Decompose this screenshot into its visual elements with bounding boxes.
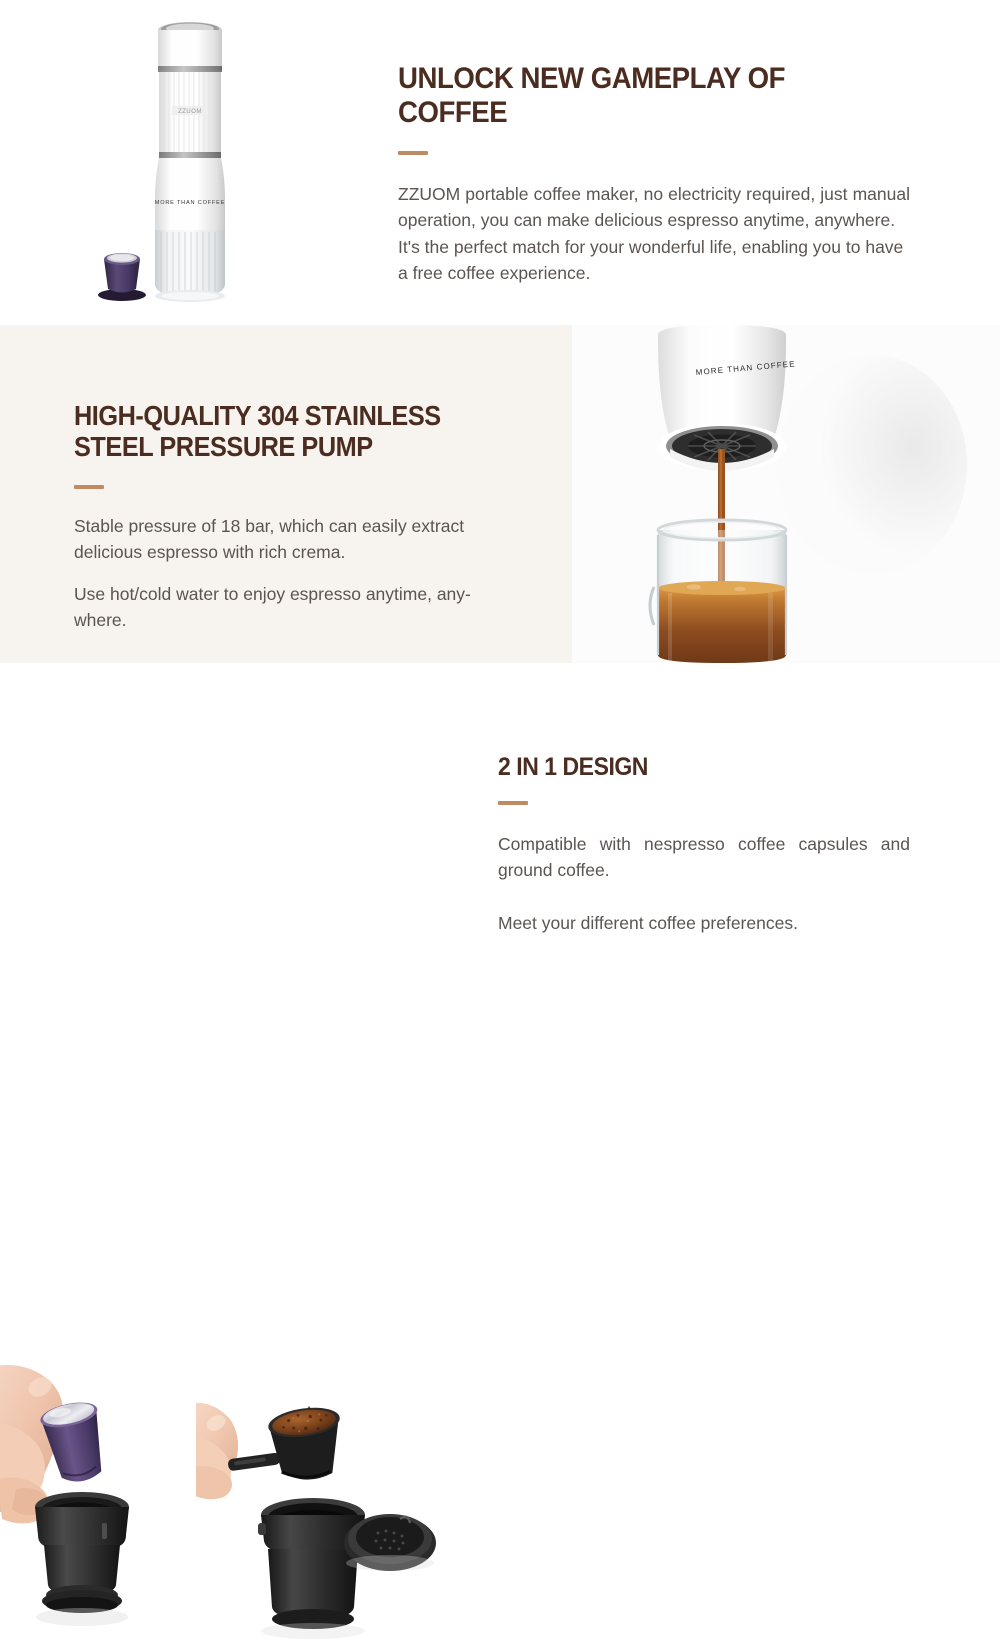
- svg-text:ZZUOM: ZZUOM: [178, 109, 202, 115]
- photo-capsule-into-adapter: [0, 1339, 222, 1639]
- brand-mark-text: MORE THAN COFFEE: [155, 200, 226, 206]
- design-paragraph-1: Compatible with nespresso coffee capsule…: [498, 831, 910, 884]
- unlock-paragraph-1: ZZUOM portable coffee maker, no electric…: [398, 181, 910, 234]
- accent-dash: [74, 485, 104, 489]
- espresso-glass: [650, 520, 786, 663]
- section-pressure-pump-photo: MORE THAN COFFEE: [572, 325, 1000, 663]
- dispenser-head: MORE THAN COFFEE: [658, 325, 796, 471]
- coffee-maker-illustration: ZZUOM MORE THAN COFFEE: [95, 8, 285, 308]
- design-paragraph-2: Meet your different coffee preferences.: [498, 910, 910, 936]
- section-unlock: ZZUOM MORE THAN COFFEE: [0, 0, 1000, 325]
- ground-coffee-illustration: [196, 1363, 446, 1643]
- photo-ground-coffee-basket: [196, 1363, 446, 1643]
- section-heading-line2: STEEL PRESSURE PUMP: [74, 432, 470, 463]
- section-pressure-pump: HIGH-QUALITY 304 STAINLESS STEEL PRESSUR…: [0, 325, 572, 663]
- product-detail-page: ZZUOM MORE THAN COFFEE: [0, 0, 1000, 1000]
- espresso-pouring-illustration: MORE THAN COFFEE: [572, 325, 1000, 663]
- section-two-in-one: 2 IN 1 DESIGN Compatible with nespresso …: [0, 663, 1000, 1000]
- section-heading: 2 IN 1 DESIGN: [498, 753, 877, 781]
- pump-paragraph-2: Use hot/cold water to enjoy espresso any…: [74, 581, 504, 634]
- section-unlock-text: UNLOCK NEW GAMEPLAY OF COFFEE ZZUOM port…: [398, 62, 910, 286]
- section-heading-line1: HIGH-QUALITY 304 STAINLESS: [74, 401, 470, 432]
- reusable-basket: [258, 1498, 368, 1639]
- unlock-paragraph-2: It's the perfect match for your wonderfu…: [398, 234, 910, 287]
- section-pressure-pump-text: HIGH-QUALITY 304 STAINLESS STEEL PRESSUR…: [74, 401, 504, 634]
- accent-dash: [498, 801, 528, 805]
- capsule-adapter: [35, 1492, 129, 1626]
- page-title: UNLOCK NEW GAMEPLAY OF COFFEE: [398, 62, 869, 129]
- capsule-insert-illustration: [0, 1339, 222, 1639]
- pump-paragraph-1: Stable pressure of 18 bar, which can eas…: [74, 513, 504, 566]
- nespresso-capsule-illustration: [98, 253, 146, 301]
- section-two-in-one-text: 2 IN 1 DESIGN Compatible with nespresso …: [498, 753, 910, 936]
- product-photo-coffee-maker: ZZUOM MORE THAN COFFEE: [95, 8, 285, 308]
- accent-dash: [398, 151, 428, 155]
